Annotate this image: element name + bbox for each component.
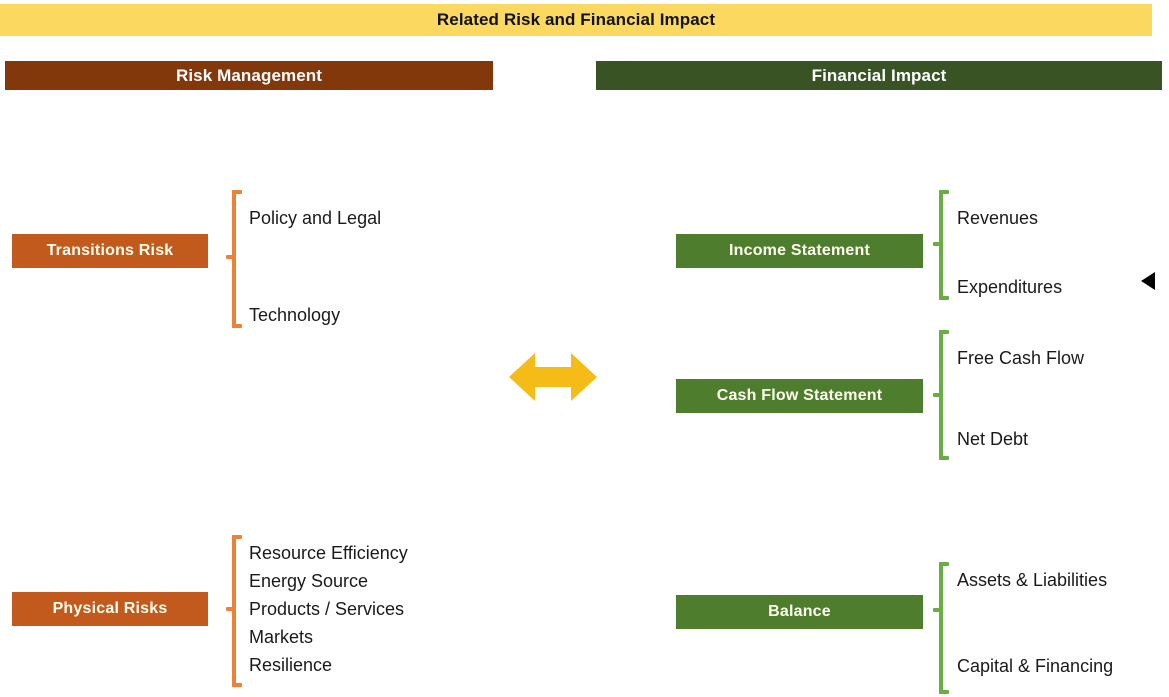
column-header-risk-management-label: Risk Management: [176, 66, 322, 86]
leaf-revenues: Revenues: [957, 204, 1038, 232]
column-header-financial-impact: Financial Impact: [596, 61, 1162, 90]
brace-cap-bottom: [232, 683, 242, 687]
chip-income-statement[interactable]: Income Statement: [676, 234, 923, 268]
list-item: Resilience: [249, 651, 408, 679]
chip-cash-flow-statement[interactable]: Cash Flow Statement: [676, 379, 923, 413]
brace-physical-risks: [226, 535, 240, 687]
column-header-financial-impact-label: Financial Impact: [812, 66, 947, 86]
chip-physical-risks-label: Physical Risks: [53, 600, 168, 618]
double-headed-horizontal-arrow-icon: [509, 349, 597, 405]
page-title: Related Risk and Financial Impact: [437, 10, 715, 30]
leaf-assets-and-liabilities: Assets & Liabilities: [957, 566, 1107, 594]
chip-transitions-risk-label: Transitions Risk: [47, 242, 174, 260]
leaf-list-physical-risks: Resource Efficiency Energy Source Produc…: [249, 539, 408, 679]
chip-balance-label: Balance: [768, 603, 831, 621]
brace-nub: [226, 607, 234, 611]
brace-spine: [232, 535, 236, 687]
brace-income-statement: [933, 190, 947, 300]
list-item: Resource Efficiency: [249, 539, 408, 567]
brace-cap-bottom: [232, 324, 242, 328]
brace-nub: [933, 393, 941, 397]
leaf-technology: Technology: [249, 301, 340, 329]
chip-balance[interactable]: Balance: [676, 595, 923, 629]
brace-cash-flow-statement: [933, 330, 947, 460]
leaf-capital-and-financing: Capital & Financing: [957, 652, 1113, 680]
chip-cash-flow-statement-label: Cash Flow Statement: [717, 387, 883, 405]
list-item: Energy Source: [249, 567, 408, 595]
leaf-policy-and-legal: Policy and Legal: [249, 204, 381, 232]
leaf-net-debt: Net Debt: [957, 425, 1028, 453]
brace-spine: [232, 190, 236, 328]
brace-nub: [226, 255, 234, 259]
diagram-canvas: Related Risk and Financial Impact Risk M…: [0, 0, 1169, 697]
chip-transitions-risk[interactable]: Transitions Risk: [12, 234, 208, 268]
brace-nub: [933, 608, 941, 612]
chip-physical-risks[interactable]: Physical Risks: [12, 592, 208, 626]
list-item: Markets: [249, 623, 408, 651]
brace-balance: [933, 562, 947, 694]
brace-nub: [933, 242, 941, 246]
brace-cap-bottom: [939, 296, 949, 300]
brace-cap-bottom: [939, 690, 949, 694]
brace-transitions-risk: [226, 190, 240, 328]
chip-income-statement-label: Income Statement: [729, 242, 870, 260]
page-title-bar: Related Risk and Financial Impact: [0, 4, 1152, 36]
brace-cap-bottom: [939, 456, 949, 460]
left-pointing-triangle-icon: [1141, 272, 1155, 290]
list-item: Products / Services: [249, 595, 408, 623]
leaf-free-cash-flow: Free Cash Flow: [957, 344, 1084, 372]
column-header-risk-management: Risk Management: [5, 61, 493, 90]
leaf-expenditures: Expenditures: [957, 273, 1062, 301]
brace-spine: [939, 562, 943, 694]
